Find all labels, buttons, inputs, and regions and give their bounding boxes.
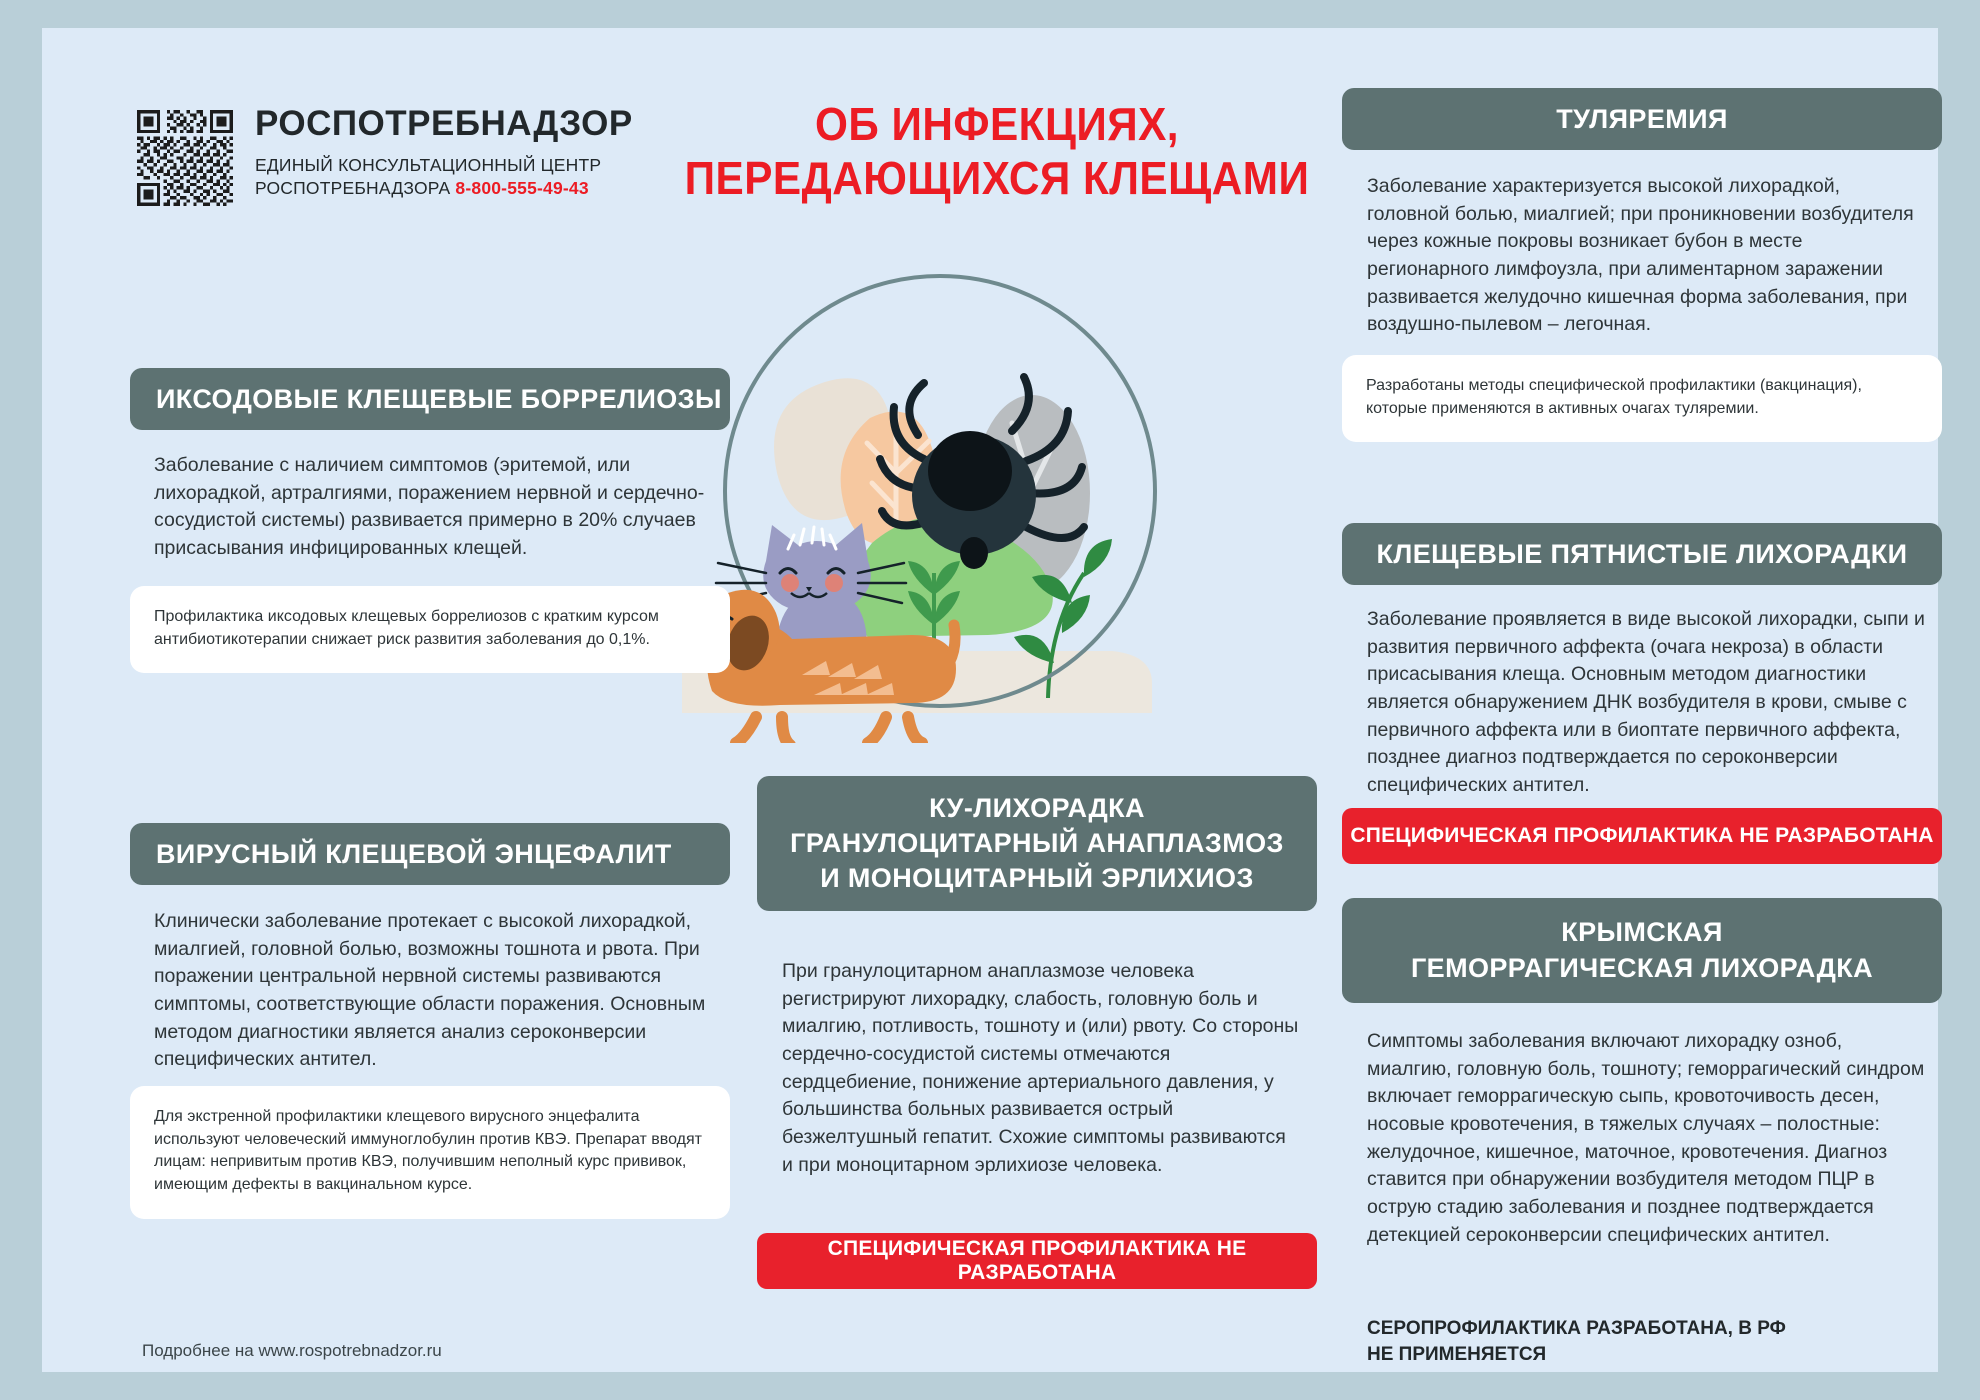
hotline-phone[interactable]: 8-800-555-49-43 <box>455 178 588 198</box>
q-fever-header-line-3: И МОНОЦИТАРНЫЙ ЭРЛИХИОЗ <box>820 861 1254 896</box>
cat-cheek-left <box>781 574 799 592</box>
crimean-note-line-2: НЕ ПРИМЕНЯЕТСЯ <box>1367 1342 1947 1368</box>
footer-website-link[interactable]: Подробнее на www.rospotrebnadzor.ru <box>142 1341 442 1361</box>
section-body-encephalitis: Клинически заболевание протекает с высок… <box>154 908 714 1074</box>
page-title-line-2: ПЕРЕДАЮЩИХСЯ КЛЕЩАМИ <box>680 152 1315 206</box>
tick-shield <box>928 431 1012 511</box>
brand-text: РОСПОТРЕБНАДЗОР ЕДИНЫЙ КОНСУЛЬТАЦИОННЫЙ … <box>255 106 633 200</box>
section-note-crimean-fever: СЕРОПРОФИЛАКТИКА РАЗРАБОТАНА, В РФ НЕ ПР… <box>1367 1316 1947 1367</box>
page-title-line-1: ОБ ИНФЕКЦИЯХ, <box>680 98 1315 152</box>
q-fever-header-line-1: КУ-ЛИХОРАДКА <box>929 791 1145 826</box>
tick-head <box>960 537 988 569</box>
section-body-q-fever: При гранулоцитарном анаплазмозе человека… <box>782 958 1302 1180</box>
section-body-tularemia: Заболевание характеризуется высокой лихо… <box>1367 173 1927 339</box>
brand-subtitle: ЕДИНЫЙ КОНСУЛЬТАЦИОННЫЙ ЦЕНТР РОСПОТРЕБН… <box>255 154 633 200</box>
section-card-encephalitis: Для экстренной профилактики клещевого ви… <box>130 1086 730 1219</box>
cat-head <box>763 523 871 614</box>
section-header-borreliosis: ИКСОДОВЫЕ КЛЕЩЕВЫЕ БОРРЕЛИОЗЫ <box>130 368 730 430</box>
org-genitive-label: РОСПОТРЕБНАДЗОРА <box>255 178 450 198</box>
consultation-center-phone-line: РОСПОТРЕБНАДЗОРА 8-800-555-49-43 <box>255 177 633 200</box>
brand-block: РОСПОТРЕБНАДЗОР ЕДИНЫЙ КОНСУЛЬТАЦИОННЫЙ … <box>137 106 633 206</box>
red-note-q-fever: СПЕЦИФИЧЕСКАЯ ПРОФИЛАКТИКА НЕ РАЗРАБОТАН… <box>757 1233 1317 1289</box>
section-header-spotted-fevers: КЛЕЩЕВЫЕ ПЯТНИСТЫЕ ЛИХОРАДКИ <box>1342 523 1942 585</box>
section-header-encephalitis: ВИРУСНЫЙ КЛЕЩЕВОЙ ЭНЦЕФАЛИТ <box>130 823 730 885</box>
page-title: ОБ ИНФЕКЦИЯХ, ПЕРЕДАЮЩИХСЯ КЛЕЩАМИ <box>680 98 1315 206</box>
section-header-tularemia: ТУЛЯРЕМИЯ <box>1342 88 1942 150</box>
tick-cat-dog-nature-illustration <box>682 243 1162 743</box>
crimean-note-line-1: СЕРОПРОФИЛАКТИКА РАЗРАБОТАНА, В РФ <box>1367 1316 1947 1342</box>
brand-title: РОСПОТРЕБНАДЗОР <box>255 106 633 141</box>
section-card-borreliosis: Профилактика иксодовых клещевых боррелио… <box>130 586 730 673</box>
section-card-tularemia: Разработаны методы специфической профила… <box>1342 355 1942 442</box>
section-header-q-fever: КУ-ЛИХОРАДКА ГРАНУЛОЦИТАРНЫЙ АНАПЛАЗМОЗ … <box>757 776 1317 911</box>
section-body-borreliosis: Заболевание с наличием симптомов (эритем… <box>154 452 714 563</box>
consultation-center-line: ЕДИНЫЙ КОНСУЛЬТАЦИОННЫЙ ЦЕНТР <box>255 154 633 177</box>
section-body-crimean-fever: Симптомы заболевания включают лихорадку … <box>1367 1028 1927 1250</box>
poster-canvas: РОСПОТРЕБНАДЗОР ЕДИНЫЙ КОНСУЛЬТАЦИОННЫЙ … <box>42 28 1938 1372</box>
cat-cheek-right <box>825 574 843 592</box>
section-header-crimean-fever: КРЫМСКАЯ ГЕМОРРАГИЧЕСКАЯ ЛИХОРАДКА <box>1342 898 1942 1003</box>
q-fever-header-line-2: ГРАНУЛОЦИТАРНЫЙ АНАПЛАЗМОЗ <box>790 826 1284 861</box>
section-body-spotted-fevers: Заболевание проявляется в виде высокой л… <box>1367 606 1927 800</box>
red-note-spotted-fevers: СПЕЦИФИЧЕСКАЯ ПРОФИЛАКТИКА НЕ РАЗРАБОТАН… <box>1342 808 1942 864</box>
qr-code-icon <box>137 110 233 206</box>
dog-legs <box>736 717 922 743</box>
crimean-header-line-1: КРЫМСКАЯ <box>1561 915 1723 950</box>
crimean-header-line-2: ГЕМОРРАГИЧЕСКАЯ ЛИХОРАДКА <box>1411 951 1873 986</box>
